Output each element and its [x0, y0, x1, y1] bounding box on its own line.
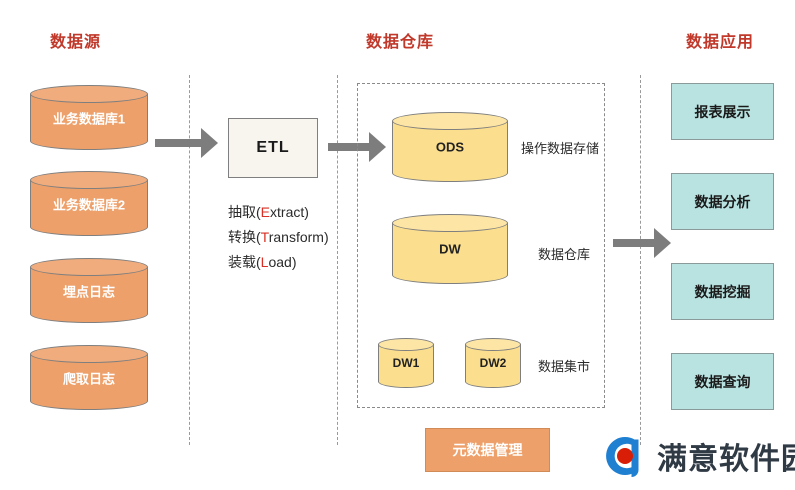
- application-box-report-display[interactable]: 报表展示: [671, 83, 774, 140]
- etl-step-load-cn: 装载: [228, 254, 256, 270]
- cylinder-top: [392, 214, 508, 232]
- cylinder-top: [30, 85, 148, 103]
- etl-step-extract-letter: E: [261, 204, 270, 220]
- etl-step-transform-letter: T: [261, 229, 269, 245]
- column-title-data-application: 数据应用: [686, 28, 754, 52]
- etl-step-extract-rest: xtract: [270, 204, 304, 220]
- arrow-source-to-etl: [155, 128, 218, 158]
- arrow-head: [654, 228, 671, 258]
- cylinder-top: [378, 338, 434, 351]
- cylinder-top: [30, 171, 148, 189]
- brand-watermark: 满意软件园: [604, 434, 795, 478]
- etl-step-transform-close: ): [324, 229, 329, 245]
- divider-etl-warehouse: [337, 75, 338, 445]
- etl-process-box[interactable]: ETL: [228, 118, 318, 178]
- etl-step-extract-close: ): [304, 204, 309, 220]
- metadata-management-box[interactable]: 元数据管理: [425, 428, 550, 472]
- cylinder-top: [465, 338, 521, 351]
- cylinder-top: [392, 112, 508, 130]
- brand-name: 满意软件园: [657, 434, 795, 478]
- column-title-data-warehouse: 数据仓库: [366, 28, 434, 52]
- etl-step-load-rest: oad: [268, 254, 291, 270]
- arrow-shaft: [155, 139, 201, 147]
- manyi-software-logo-icon: [604, 434, 648, 478]
- source-cylinder-business-db-2[interactable]: 业务数据库2: [30, 171, 148, 236]
- data-mart-cylinder-dw2[interactable]: DW2: [465, 338, 521, 388]
- arrow-head: [201, 128, 218, 158]
- etl-steps-list: 抽取(Extract) 转换(Transform) 装载(Load): [228, 200, 329, 275]
- warehouse-cylinder-ods[interactable]: ODS: [392, 112, 508, 182]
- diagram-canvas: 数据源 数据仓库 数据应用 业务数据库1 业务数据库2 埋点日志 爬取日志 ET…: [0, 0, 795, 490]
- arrow-warehouse-to-application: [613, 228, 671, 258]
- etl-step-transform-cn: 转换: [228, 229, 256, 245]
- etl-step-extract: 抽取(Extract): [228, 200, 329, 225]
- application-box-data-mining[interactable]: 数据挖掘: [671, 263, 774, 320]
- etl-step-load-close: ): [292, 254, 297, 270]
- data-mart-cylinder-dw1[interactable]: DW1: [378, 338, 434, 388]
- application-box-data-analysis[interactable]: 数据分析: [671, 173, 774, 230]
- etl-step-load: 装载(Load): [228, 250, 329, 275]
- warehouse-side-label-ods: 操作数据存储: [521, 138, 599, 157]
- divider-warehouse-application: [640, 75, 641, 445]
- source-cylinder-crawler-log[interactable]: 爬取日志: [30, 345, 148, 410]
- cylinder-top: [30, 258, 148, 276]
- column-title-data-source: 数据源: [50, 28, 101, 52]
- source-cylinder-business-db-1[interactable]: 业务数据库1: [30, 85, 148, 150]
- source-cylinder-tracking-log[interactable]: 埋点日志: [30, 258, 148, 323]
- etl-step-extract-cn: 抽取: [228, 204, 256, 220]
- etl-step-transform-rest: ransform: [269, 229, 324, 245]
- arrow-shaft: [613, 239, 654, 247]
- warehouse-side-label-data-mart: 数据集市: [538, 356, 590, 375]
- etl-step-transform: 转换(Transform): [228, 225, 329, 250]
- application-box-data-query[interactable]: 数据查询: [671, 353, 774, 410]
- cylinder-top: [30, 345, 148, 363]
- warehouse-side-label-dw: 数据仓库: [538, 244, 590, 263]
- warehouse-cylinder-dw[interactable]: DW: [392, 214, 508, 284]
